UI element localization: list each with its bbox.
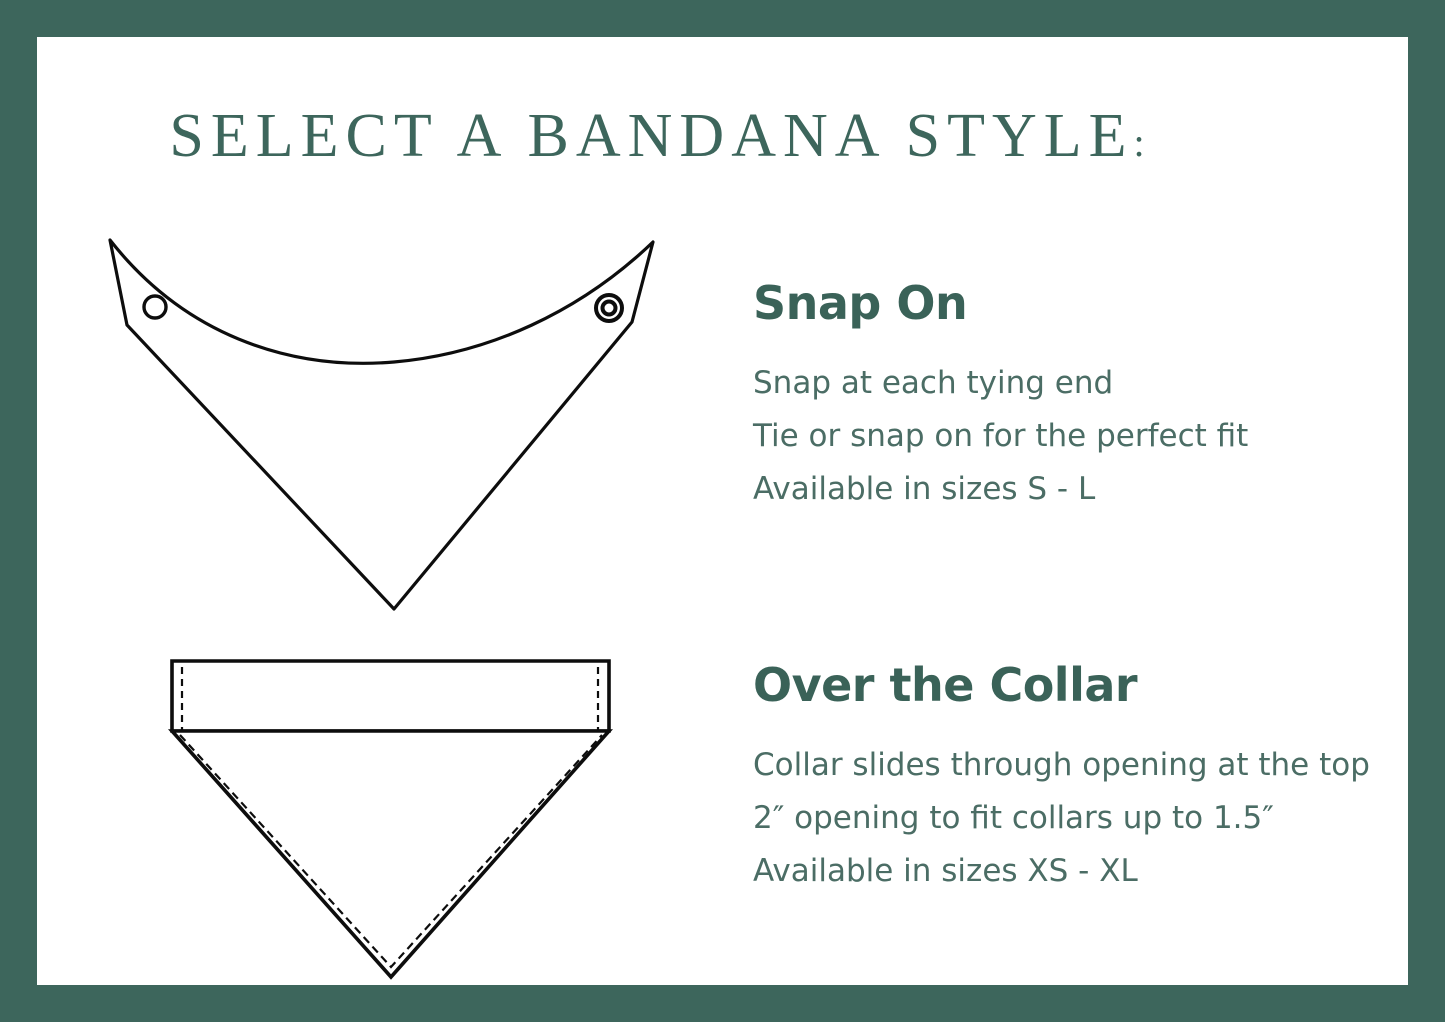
style-detail-line: Available in sizes XS - XL xyxy=(753,845,1370,898)
style-detail-line: 2″ opening to fit collars up to 1.5″ xyxy=(753,792,1370,845)
snap-on-bandana-diagram xyxy=(60,192,680,622)
style-heading-over-the-collar: Over the Collar xyxy=(753,661,1370,711)
style-block-snap-on: Snap On Snap at each tying end Tie or sn… xyxy=(753,279,1248,516)
collar-band-outline xyxy=(172,661,609,731)
poster-frame: SELECT A BANDANA STYLE: xyxy=(0,0,1445,1022)
page-title: SELECT A BANDANA STYLE: xyxy=(37,105,1277,167)
style-details-snap-on: Snap at each tying end Tie or snap on fo… xyxy=(753,357,1248,516)
style-detail-line: Collar slides through opening at the top xyxy=(753,739,1370,792)
style-detail-line: Snap at each tying end xyxy=(753,357,1248,410)
over-the-collar-bandana-diagram xyxy=(132,612,652,1002)
collar-bandana-triangle-outline xyxy=(172,731,609,977)
page-title-text: SELECT A BANDANA STYLE xyxy=(169,102,1133,170)
snap-on-bandana-outline xyxy=(110,240,653,609)
style-details-over-the-collar: Collar slides through opening at the top… xyxy=(753,739,1370,898)
style-block-over-the-collar: Over the Collar Collar slides through op… xyxy=(753,661,1370,898)
style-heading-snap-on: Snap On xyxy=(753,279,1248,329)
poster-card: SELECT A BANDANA STYLE: xyxy=(37,37,1408,985)
style-detail-line: Tie or snap on for the perfect fit xyxy=(753,410,1248,463)
style-detail-line: Available in sizes S - L xyxy=(753,463,1248,516)
page-title-colon: : xyxy=(1133,120,1144,165)
